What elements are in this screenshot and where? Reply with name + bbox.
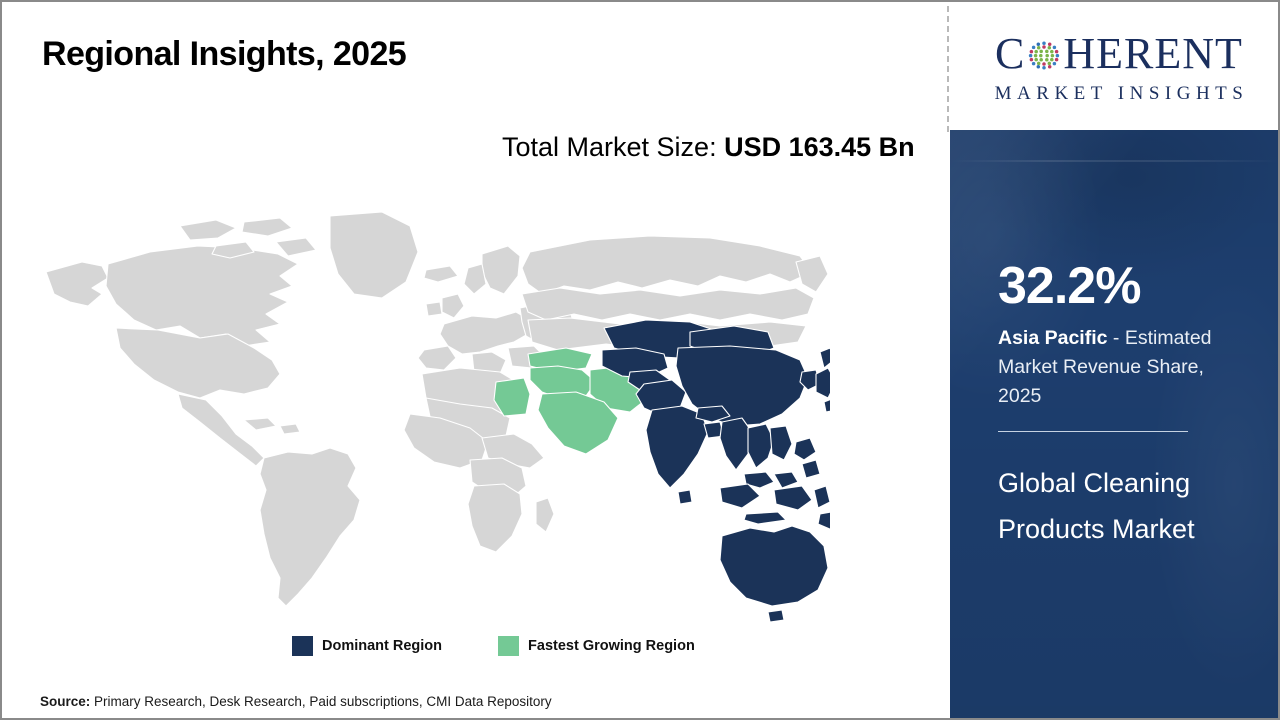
infographic-slide: Regional Insights, 2025 Total Market Siz…: [0, 0, 1280, 720]
globe-dots-icon: [1026, 37, 1062, 73]
stat-value: 32.2%: [998, 260, 1238, 312]
source-label: Source:: [40, 694, 90, 709]
stat-divider: [998, 431, 1188, 432]
stat-description: Asia Pacific - Estimated Market Revenue …: [998, 324, 1238, 411]
logo-subtitle: MARKET INSIGHTS: [990, 83, 1249, 105]
left-content-pane: Regional Insights, 2025 Total Market Siz…: [2, 2, 946, 718]
stat-block: 32.2% Asia Pacific - Estimated Market Re…: [998, 260, 1238, 432]
market-name: Global Cleaning Products Market: [998, 460, 1248, 553]
legend-item-fastest-growing: Fastest Growing Region: [498, 636, 695, 656]
map-region-africa: [404, 368, 554, 552]
panel-background-streak: [950, 160, 1280, 162]
vertical-dashed-divider: [947, 6, 949, 132]
legend-item-dominant: Dominant Region: [292, 636, 442, 656]
world-map-svg: [30, 202, 830, 622]
source-text: Primary Research, Desk Research, Paid su…: [90, 694, 551, 709]
right-stat-panel: 32.2% Asia Pacific - Estimated Market Re…: [950, 130, 1280, 720]
coherent-market-insights-logo: C: [960, 6, 1278, 130]
logo-letter-c: C: [995, 32, 1025, 76]
legend-label-fastest-growing: Fastest Growing Region: [528, 638, 695, 654]
page-title: Regional Insights, 2025: [42, 35, 406, 74]
stat-region-name: Asia Pacific: [998, 327, 1107, 349]
logo-letters-herent: HERENT: [1063, 32, 1243, 76]
legend-label-dominant: Dominant Region: [322, 638, 442, 654]
map-legend: Dominant Region Fastest Growing Region: [292, 636, 695, 656]
source-note: Source: Primary Research, Desk Research,…: [40, 694, 552, 709]
logo-wordmark: C: [995, 32, 1243, 76]
green-square-icon: [498, 636, 519, 656]
world-map: [30, 202, 830, 622]
map-region-asia-pacific-dominant: [602, 320, 830, 622]
market-size-value: USD 163.45 Bn: [724, 132, 915, 162]
market-size-label: Total Market Size:: [502, 132, 724, 162]
total-market-size: Total Market Size: USD 163.45 Bn: [502, 128, 922, 166]
map-region-americas: [46, 212, 458, 606]
navy-square-icon: [292, 636, 313, 656]
